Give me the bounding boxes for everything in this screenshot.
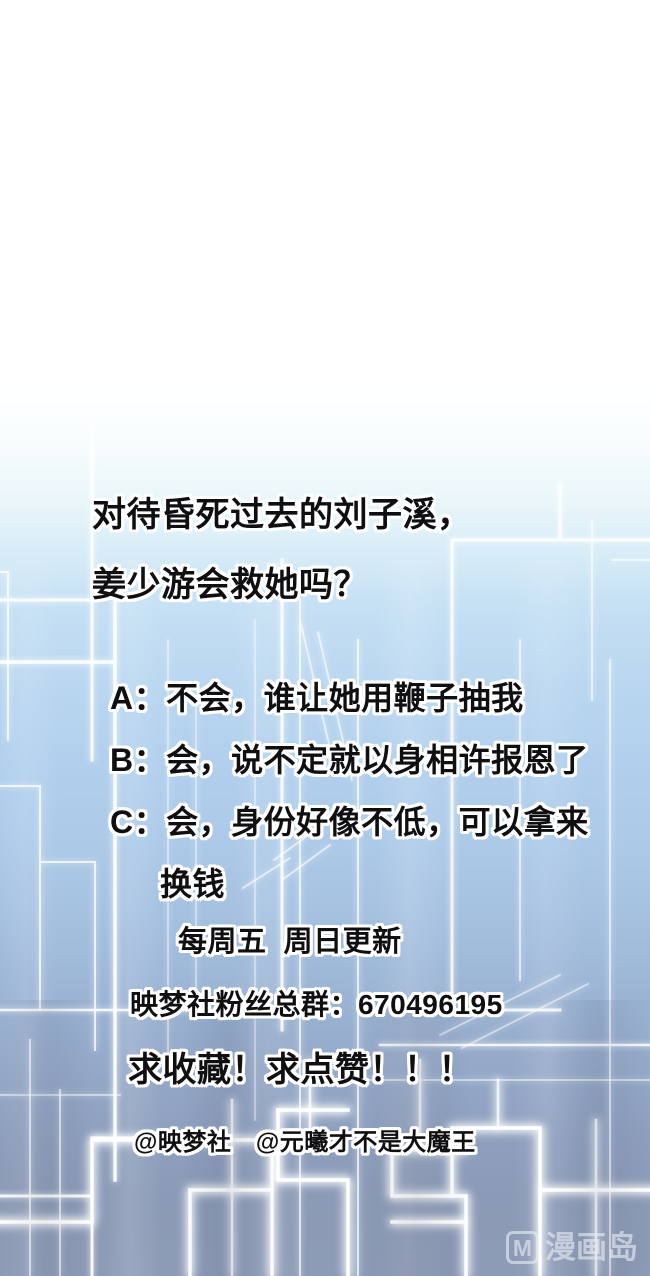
call-to-action: 求收藏！求点赞！！！ [128, 1053, 473, 1087]
fan-group-number: 670496195 [358, 989, 503, 1020]
option-c-text: 会，身份好像不低，可以拿来 [166, 804, 589, 840]
option-c-continuation: 换钱 [160, 868, 225, 900]
option-b: B：会，说不定就以身相许报恩了 [110, 744, 589, 776]
comic-page: 对待昏死过去的刘子溪， 姜少游会救她吗？ A：不会，谁让她用鞭子抽我 B：会，说… [0, 0, 650, 1276]
option-a-prefix: A： [110, 680, 166, 716]
watermark-label: 漫画岛 [545, 1231, 638, 1264]
option-b-prefix: B： [110, 742, 166, 778]
question-line-1: 对待昏死过去的刘子溪， [92, 498, 472, 532]
handle-separator [231, 1129, 256, 1156]
author-handles: @映梦社 @元曦才不是大魔王 [134, 1131, 476, 1155]
option-a: A：不会，谁让她用鞭子抽我 [110, 682, 524, 714]
fan-group-label: 映梦社粉丝总群： [130, 989, 358, 1020]
manhuadao-logo-icon: M [506, 1231, 539, 1264]
fan-group-line: 映梦社粉丝总群：670496195 [130, 991, 503, 1019]
text-layer: 对待昏死过去的刘子溪， 姜少游会救她吗？ A：不会，谁让她用鞭子抽我 B：会，说… [0, 0, 650, 1276]
option-a-text: 不会，谁让她用鞭子抽我 [166, 680, 524, 716]
option-c-prefix: C： [110, 804, 166, 840]
option-c: C：会，身份好像不低，可以拿来 [110, 806, 589, 838]
handle-author: @元曦才不是大魔王 [256, 1129, 476, 1156]
option-b-text: 会，说不定就以身相许报恩了 [166, 742, 589, 778]
update-schedule: 每周五 周日更新 [178, 928, 402, 957]
handle-studio: @映梦社 [134, 1129, 231, 1156]
question-line-2: 姜少游会救她吗？ [92, 568, 368, 602]
site-watermark: M 漫画岛 [506, 1231, 638, 1264]
